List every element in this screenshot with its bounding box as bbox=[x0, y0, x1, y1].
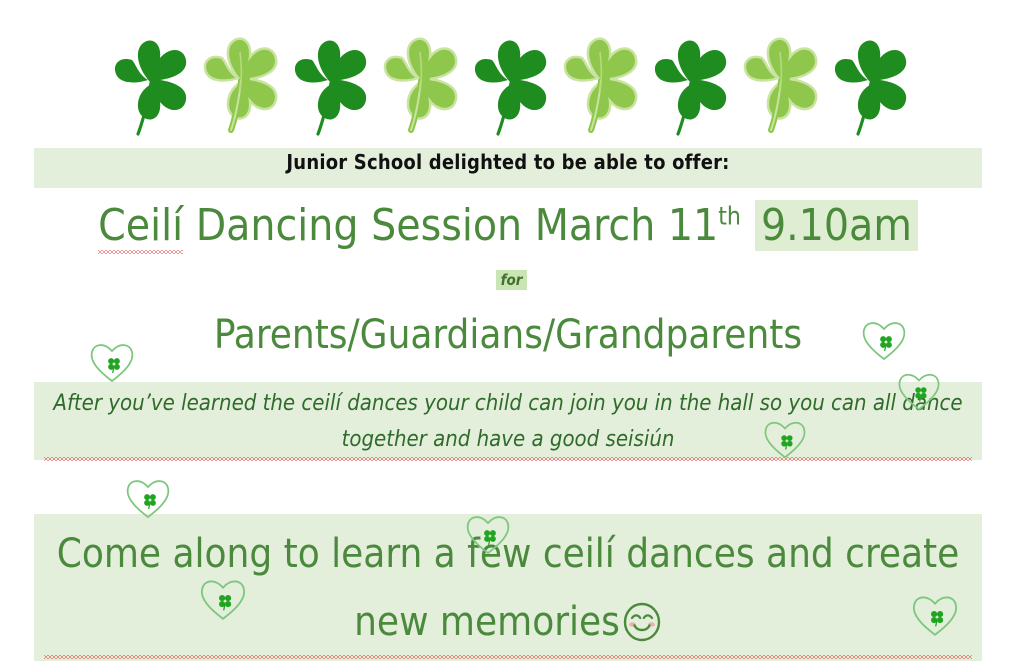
headline-event-rest: Dancing Session March 11 bbox=[183, 200, 718, 251]
for-line: for bbox=[0, 271, 1023, 289]
closing-paragraph: Come along to learn a few ceilí dances a… bbox=[44, 520, 972, 656]
shamrock-dark-icon bbox=[644, 30, 740, 140]
shamrock-dark-icon bbox=[284, 30, 380, 140]
shamrock-light-icon bbox=[374, 30, 470, 140]
smiling-face-icon bbox=[622, 599, 662, 645]
shamrock-banner bbox=[0, 0, 1023, 148]
body-paragraph: After you’ve learned the ceilí dances yo… bbox=[44, 386, 972, 458]
headline-event-prefix: Ceilí bbox=[98, 200, 183, 251]
body-part1: After you’ve learned the bbox=[53, 391, 301, 416]
headline-ordinal-suffix: th bbox=[718, 201, 741, 230]
for-label: for bbox=[496, 270, 528, 290]
shamrock-dark-icon bbox=[464, 30, 560, 140]
audience-line: Parents/Guardians/Grandparents bbox=[34, 312, 982, 358]
closing-misspelled-ceili: ceilí bbox=[543, 531, 615, 577]
shamrock-light-icon bbox=[194, 30, 290, 140]
body-misspelled-seisiun: seisiún bbox=[606, 427, 675, 452]
shamrock-light-icon bbox=[734, 30, 830, 140]
offer-line: Junior School delighted to be able to of… bbox=[34, 150, 982, 174]
shamrock-dark-icon bbox=[824, 30, 920, 140]
closing-part1: Come along to learn a few bbox=[57, 531, 543, 577]
headline-time: 9.10am bbox=[755, 200, 918, 251]
headline: Ceilí Dancing Session March 11th9.10am bbox=[34, 200, 982, 251]
shamrock-dark-icon bbox=[104, 30, 200, 140]
body-misspelled-ceili: ceilí bbox=[301, 391, 341, 416]
shamrock-light-icon bbox=[554, 30, 650, 140]
